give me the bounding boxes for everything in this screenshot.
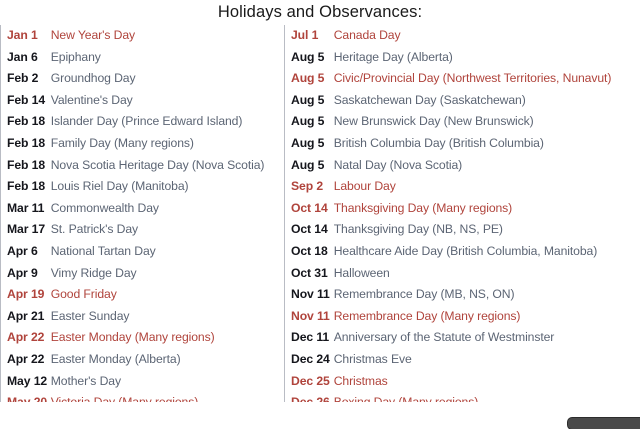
holiday-name: Natal Day (Nova Scotia) — [334, 155, 640, 177]
holiday-name: St. Patrick's Day — [51, 219, 284, 241]
holiday-name: Epiphany — [51, 47, 284, 69]
holiday-name: Easter Sunday — [51, 306, 284, 328]
holiday-row: Aug 5British Columbia Day (British Colum… — [291, 133, 640, 155]
holiday-table-second-half: Jul 1Canada DayAug 5Heritage Day (Albert… — [291, 25, 640, 429]
holiday-row: May 12Mother's Day — [7, 371, 284, 393]
holiday-date: Dec 24 — [291, 349, 334, 371]
holiday-date: Feb 18 — [7, 176, 51, 198]
holiday-date: Feb 18 — [7, 133, 51, 155]
holidays-page: Holidays and Observances: Jan 1New Year'… — [0, 0, 640, 429]
holiday-name: Remembrance Day (MB, NS, ON) — [334, 284, 640, 306]
holiday-row: Aug 5Natal Day (Nova Scotia) — [291, 155, 640, 177]
holiday-row: Apr 6National Tartan Day — [7, 241, 284, 263]
holiday-row: Apr 9Vimy Ridge Day — [7, 263, 284, 285]
holiday-name: Thanksgiving Day (NB, NS, PE) — [334, 219, 640, 241]
holiday-row: Apr 22Easter Monday (Alberta) — [7, 349, 284, 371]
holiday-date: Aug 5 — [291, 68, 334, 90]
holiday-date: Nov 11 — [291, 306, 334, 328]
holiday-date: Feb 2 — [7, 68, 51, 90]
holiday-row: Nov 11Remembrance Day (MB, NS, ON) — [291, 284, 640, 306]
holiday-row: Jan 6Epiphany — [7, 47, 284, 69]
holiday-date: Oct 14 — [291, 219, 334, 241]
holiday-row: Dec 25Christmas — [291, 371, 640, 393]
holiday-name: Commonwealth Day — [51, 198, 284, 220]
holiday-date: Aug 5 — [291, 47, 334, 69]
holiday-date: Jul 1 — [291, 25, 334, 47]
holiday-row: Feb 18Family Day (Many regions) — [7, 133, 284, 155]
holiday-name: British Columbia Day (British Columbia) — [334, 133, 640, 155]
holiday-row: Oct 31Halloween — [291, 263, 640, 285]
holiday-date: Mar 17 — [7, 219, 51, 241]
holiday-row: Aug 5New Brunswick Day (New Brunswick) — [291, 111, 640, 133]
holiday-name: Canada Day — [334, 25, 640, 47]
holiday-name: Vimy Ridge Day — [51, 263, 284, 285]
holiday-date: Aug 5 — [291, 155, 334, 177]
holiday-row: Mar 17St. Patrick's Day — [7, 219, 284, 241]
holiday-row: Aug 5Civic/Provincial Day (Northwest Ter… — [291, 68, 640, 90]
holiday-row: Aug 5Heritage Day (Alberta) — [291, 47, 640, 69]
holiday-row: Jan 1New Year's Day — [7, 25, 284, 47]
holiday-row: Aug 5Saskatchewan Day (Saskatchewan) — [291, 90, 640, 112]
holiday-name: Saskatchewan Day (Saskatchewan) — [334, 90, 640, 112]
holiday-date: May 12 — [7, 371, 51, 393]
holiday-date: Apr 22 — [7, 327, 51, 349]
holiday-name: Heritage Day (Alberta) — [334, 47, 640, 69]
holiday-row: Feb 14Valentine's Day — [7, 90, 284, 112]
holiday-date: Sep 2 — [291, 176, 334, 198]
holiday-columns: Jan 1New Year's DayJan 6EpiphanyFeb 2Gro… — [0, 25, 640, 427]
holiday-name: Easter Monday (Alberta) — [51, 349, 284, 371]
holiday-date: Jan 6 — [7, 47, 51, 69]
holiday-name: Remembrance Day (Many regions) — [334, 306, 640, 328]
holiday-row: Apr 19Good Friday — [7, 284, 284, 306]
holiday-date: Apr 6 — [7, 241, 51, 263]
holiday-row: Feb 18Islander Day (Prince Edward Island… — [7, 111, 284, 133]
holiday-row: Feb 18Nova Scotia Heritage Day (Nova Sco… — [7, 155, 284, 177]
holiday-date: Feb 18 — [7, 111, 51, 133]
holiday-column-second-half: Jul 1Canada DayAug 5Heritage Day (Albert… — [284, 25, 640, 425]
scrollbar-thumb[interactable] — [567, 417, 640, 429]
holiday-date: Oct 31 — [291, 263, 334, 285]
holiday-name: Christmas Eve — [334, 349, 640, 371]
holiday-row: Oct 14Thanksgiving Day (NB, NS, PE) — [291, 219, 640, 241]
holiday-date: Feb 14 — [7, 90, 51, 112]
holiday-rows-second-half: Jul 1Canada DayAug 5Heritage Day (Albert… — [291, 25, 640, 429]
holiday-name: New Brunswick Day (New Brunswick) — [334, 111, 640, 133]
holiday-date: Oct 14 — [291, 198, 334, 220]
holiday-name: Easter Monday (Many regions) — [51, 327, 284, 349]
holiday-name: Groundhog Day — [51, 68, 284, 90]
holiday-name: Anniversary of the Statute of Westminste… — [334, 327, 640, 349]
holiday-name: Christmas — [334, 371, 640, 393]
holiday-rows-first-half: Jan 1New Year's DayJan 6EpiphanyFeb 2Gro… — [7, 25, 284, 429]
horizontal-scrollbar[interactable] — [0, 402, 640, 429]
holiday-date: Oct 18 — [291, 241, 334, 263]
holiday-column-first-half: Jan 1New Year's DayJan 6EpiphanyFeb 2Gro… — [0, 25, 284, 425]
holiday-date: Aug 5 — [291, 90, 334, 112]
holiday-date: Apr 21 — [7, 306, 51, 328]
holiday-date: Aug 5 — [291, 133, 334, 155]
holiday-row: Nov 11Remembrance Day (Many regions) — [291, 306, 640, 328]
holiday-row: Sep 2Labour Day — [291, 176, 640, 198]
holiday-date: Jan 1 — [7, 25, 51, 47]
holiday-name: Islander Day (Prince Edward Island) — [51, 111, 284, 133]
holiday-name: New Year's Day — [51, 25, 284, 47]
holiday-row: Dec 24Christmas Eve — [291, 349, 640, 371]
holiday-row: Dec 11Anniversary of the Statute of West… — [291, 327, 640, 349]
holiday-name: Family Day (Many regions) — [51, 133, 284, 155]
holiday-name: National Tartan Day — [51, 241, 284, 263]
page-title: Holidays and Observances: — [0, 0, 640, 25]
holiday-date: Apr 9 — [7, 263, 51, 285]
holiday-row: Oct 18Healthcare Aide Day (British Colum… — [291, 241, 640, 263]
holiday-date: Nov 11 — [291, 284, 334, 306]
holiday-row: Apr 21Easter Sunday — [7, 306, 284, 328]
holiday-row: Feb 18Louis Riel Day (Manitoba) — [7, 176, 284, 198]
holiday-name: Healthcare Aide Day (British Columbia, M… — [334, 241, 640, 263]
holiday-name: Halloween — [334, 263, 640, 285]
holiday-name: Valentine's Day — [51, 90, 284, 112]
holiday-date: Aug 5 — [291, 111, 334, 133]
holiday-table-first-half: Jan 1New Year's DayJan 6EpiphanyFeb 2Gro… — [7, 25, 284, 429]
holiday-name: Civic/Provincial Day (Northwest Territor… — [334, 68, 640, 90]
holiday-row: Apr 22Easter Monday (Many regions) — [7, 327, 284, 349]
holiday-date: Dec 25 — [291, 371, 334, 393]
holiday-row: Mar 11Commonwealth Day — [7, 198, 284, 220]
holiday-name: Nova Scotia Heritage Day (Nova Scotia) — [51, 155, 284, 177]
holiday-date: Apr 22 — [7, 349, 51, 371]
holiday-name: Thanksgiving Day (Many regions) — [334, 198, 640, 220]
holiday-name: Louis Riel Day (Manitoba) — [51, 176, 284, 198]
holiday-row: Jul 1Canada Day — [291, 25, 640, 47]
holiday-name: Labour Day — [334, 176, 640, 198]
holiday-row: Feb 2Groundhog Day — [7, 68, 284, 90]
holiday-date: Feb 18 — [7, 155, 51, 177]
holiday-name: Good Friday — [51, 284, 284, 306]
holiday-date: Apr 19 — [7, 284, 51, 306]
holiday-date: Mar 11 — [7, 198, 51, 220]
holiday-name: Mother's Day — [51, 371, 284, 393]
holiday-date: Dec 11 — [291, 327, 334, 349]
holiday-row: Oct 14Thanksgiving Day (Many regions) — [291, 198, 640, 220]
